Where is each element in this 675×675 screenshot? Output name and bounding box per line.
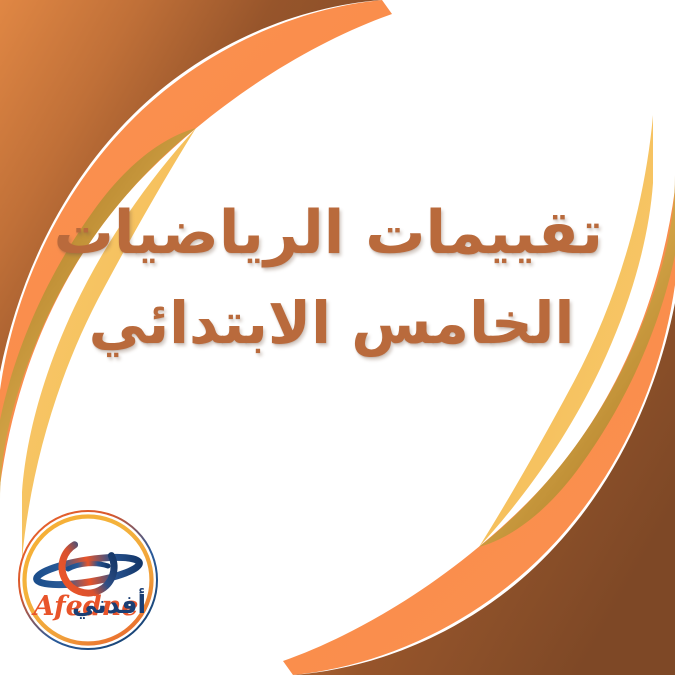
title-line-1: تقييمات الرياضيات	[60, 188, 603, 279]
poster-canvas: تقييمات الرياضيات الخامس الابتدائي	[0, 0, 675, 675]
logo-arabic-text: أفدني	[72, 588, 146, 619]
title-line-2: الخامس الابتدائي	[60, 279, 603, 367]
afedne-logo-svg: Afedne أفدني	[13, 505, 163, 655]
afedne-logo-badge[interactable]: Afedne أفدني	[13, 505, 163, 655]
poster-title-block: تقييمات الرياضيات الخامس الابتدائي	[0, 188, 675, 367]
